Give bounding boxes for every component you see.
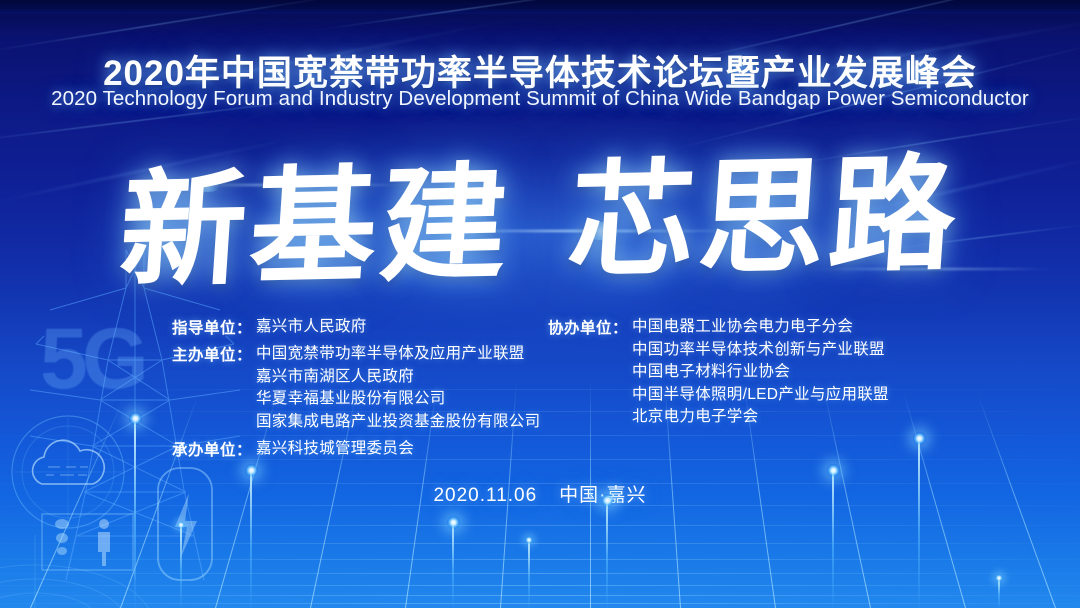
light-pole: [134, 418, 136, 608]
slogan-left: 新基建: [115, 149, 515, 305]
light-pole: [832, 470, 834, 608]
poster-canvas: 5G: [0, 0, 1080, 608]
credit-label: 主办单位：: [172, 343, 256, 365]
credit-group-guidance: 指导单位： 嘉兴市人民政府: [172, 316, 540, 339]
slogan-gap: [508, 265, 566, 266]
light-pole: [528, 540, 530, 608]
light-pole: [250, 470, 252, 608]
credit-value: 嘉兴市人民政府: [256, 316, 367, 339]
light-pole: [918, 438, 920, 608]
credit-value: 中国宽禁带功率半导体及应用产业联盟: [256, 343, 540, 366]
light-pole: [180, 525, 182, 608]
credit-label: 协办单位：: [548, 316, 632, 338]
light-pole: [452, 522, 454, 608]
light-pole: [606, 500, 608, 608]
page-subtitle: 2020 Technology Forum and Industry Devel…: [0, 87, 1080, 111]
slogan: 新基建芯思路: [0, 141, 1080, 304]
credit-values: 嘉兴市人民政府: [256, 316, 367, 339]
slogan-right: 芯思路: [564, 139, 964, 295]
credit-value: 中国电器工业协会电力电子分会: [632, 316, 889, 339]
credit-value: 中国功率半导体技术创新与产业联盟: [632, 339, 889, 362]
light-pole: [998, 578, 1000, 608]
credit-label: 指导单位：: [172, 316, 256, 338]
